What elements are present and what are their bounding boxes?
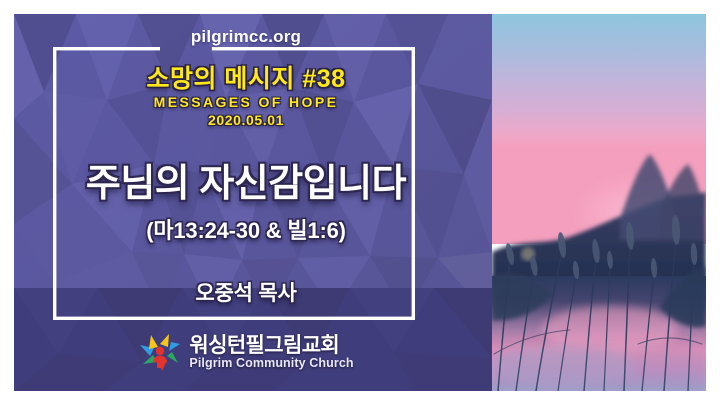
series-title-english: MESSAGES OF HOPE [0,94,492,110]
star-burst-person-icon [138,331,182,373]
sermon-title: 주님의 자신감입니다 [0,152,492,207]
website-url[interactable]: pilgrimcc.org [0,27,492,47]
series-title-korean: 소망의 메시지 #38 [0,66,492,93]
church-name-english: Pilgrim Community Church [189,357,353,370]
church-name-korean: 워싱턴필그림교회 [189,335,353,356]
sermon-date: 2020.05.01 [0,112,492,128]
sermon-title-slide: pilgrimcc.org 소망의 메시지 #38 MESSAGES OF HO… [0,0,720,405]
sunset-reeds-photo [492,14,706,391]
scripture-reference: (마13:24-30 & 빌1:6) [0,213,492,245]
church-name-block: 워싱턴필그림교회 Pilgrim Community Church [189,335,353,370]
speaker-name: 오중석 목사 [0,277,492,307]
series-block: 소망의 메시지 #38 MESSAGES OF HOPE 2020.05.01 [0,66,492,128]
church-logo-lockup[interactable]: 워싱턴필그림교회 Pilgrim Community Church [0,331,492,373]
